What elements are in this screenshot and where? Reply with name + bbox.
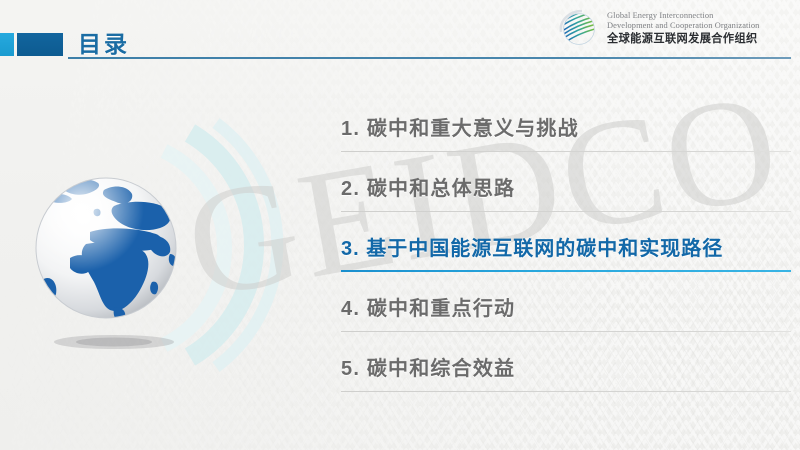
page-title: 目录 — [78, 25, 130, 59]
toc-item-5-label: 5. 碳中和综合效益 — [341, 352, 515, 381]
toc-item-5-divider — [341, 391, 791, 392]
toc-item-5[interactable]: 5. 碳中和综合效益 — [341, 332, 791, 392]
header-accent-block-blue — [17, 33, 63, 56]
toc-item-4[interactable]: 4. 碳中和重点行动 — [341, 272, 791, 332]
toc-item-1[interactable]: 1. 碳中和重大意义与挑战 — [341, 92, 791, 152]
earth-globe-graphic — [28, 170, 218, 370]
toc-item-3-label: 3. 基于中国能源互联网的碳中和实现路径 — [341, 232, 723, 261]
toc-item-4-label: 4. 碳中和重点行动 — [341, 292, 515, 321]
logo-chinese-name: 全球能源互联网发展合作组织 — [607, 33, 759, 46]
geidco-globe-logo-icon — [558, 8, 600, 50]
earth-globe-illustration — [28, 170, 218, 370]
toc-item-2-label: 2. 碳中和总体思路 — [341, 172, 515, 201]
header-divider — [68, 57, 791, 59]
table-of-contents-list: 1. 碳中和重大意义与挑战 2. 碳中和总体思路 3. 基于中国能源互联网的碳中… — [341, 92, 791, 392]
logo-english-line-1: Global Energy Interconnection — [607, 11, 759, 21]
presentation-slide: GEIDCO 目录 — [0, 0, 800, 450]
toc-item-3[interactable]: 3. 基于中国能源互联网的碳中和实现路径 — [341, 212, 791, 272]
organization-logo: Global Energy Interconnection Developmen… — [558, 8, 759, 50]
header-accent-block-cyan — [0, 33, 14, 56]
toc-item-1-label: 1. 碳中和重大意义与挑战 — [341, 112, 579, 141]
logo-english-line-2: Development and Cooperation Organization — [607, 21, 759, 31]
toc-item-2[interactable]: 2. 碳中和总体思路 — [341, 152, 791, 212]
